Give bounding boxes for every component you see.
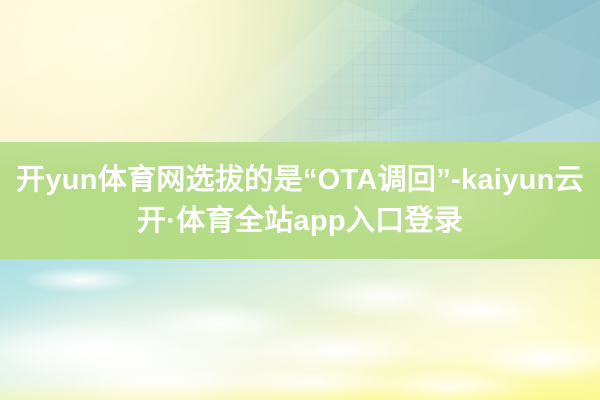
sky-scene bbox=[0, 259, 600, 400]
promo-banner-image: 开yun体育网选拔的是“OTA调回”-kaiyun云 开·体育全站app入口登录 bbox=[0, 0, 600, 400]
top-gradient-scene bbox=[0, 0, 600, 142]
banner-title-line-1: 开yun体育网选拔的是“OTA调回”-kaiyun云 bbox=[16, 160, 584, 201]
sky-bottom-wash bbox=[0, 259, 600, 400]
circuit-grid-texture bbox=[300, 0, 600, 142]
title-band: 开yun体育网选拔的是“OTA调回”-kaiyun云 开·体育全站app入口登录 bbox=[0, 142, 600, 259]
banner-title-line-2: 开·体育全站app入口登录 bbox=[137, 201, 463, 242]
